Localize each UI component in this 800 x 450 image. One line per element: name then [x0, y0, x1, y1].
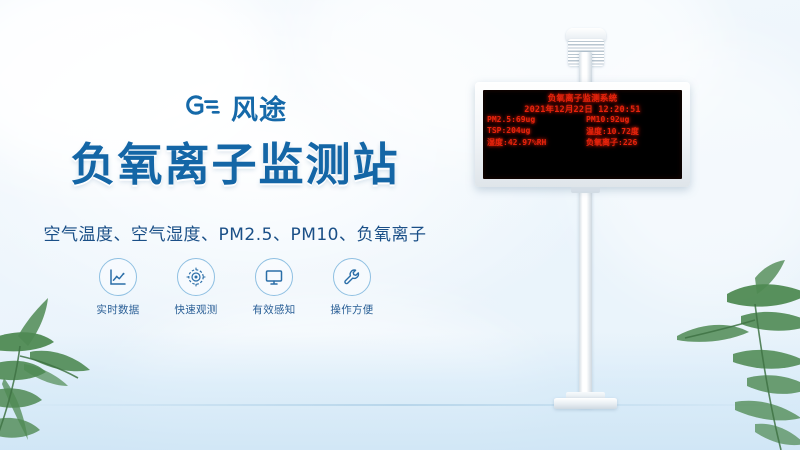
feature-item-realtime-data[interactable]: 实时数据: [92, 258, 144, 317]
feature-item-easy-operation[interactable]: 操作方便: [326, 258, 378, 317]
page-title: 负氧离子监测站: [0, 128, 470, 193]
feature-label: 实时数据: [92, 302, 144, 317]
feature-label: 有效感知: [248, 302, 300, 317]
monitor-icon: [255, 258, 293, 296]
brand-logo: 风途: [0, 88, 470, 127]
promo-banner: 风途 负氧离子监测站 空气温度、空气湿度、PM2.5、PM10、负氧离子 实时数…: [0, 0, 800, 450]
fengtu-g-wind-logo-icon: [183, 92, 223, 123]
feature-item-fast-observation[interactable]: 快速观测: [170, 258, 222, 317]
led-reading-pm10: PM10:92ug: [586, 115, 629, 124]
led-reading-humidity: 湿度:42.97%RH: [487, 137, 546, 148]
led-display: 负氧离子监测系统 2021年12月22日 12:20:51 PM2.5:69ug…: [475, 82, 690, 187]
line-chart-icon: [99, 258, 137, 296]
feature-label: 操作方便: [326, 302, 378, 317]
page-subtitle: 空气温度、空气湿度、PM2.5、PM10、负氧离子: [0, 220, 470, 245]
led-reading-temperature: 温度:10.72度: [586, 126, 639, 137]
pole-base-plate: [554, 398, 617, 409]
led-reading-tsp: TSP:204ug: [487, 126, 530, 135]
marketing-text-block: 风途 负氧离子监测站 空气温度、空气湿度、PM2.5、PM10、负氧离子 实时数…: [0, 0, 470, 450]
led-panel: 负氧离子监测系统 2021年12月22日 12:20:51 PM2.5:69ug…: [483, 90, 682, 179]
led-datetime: 2021年12月22日 12:20:51: [483, 103, 682, 115]
feature-list: 实时数据 快速观测: [0, 258, 470, 317]
feature-item-effective-sensing[interactable]: 有效感知: [248, 258, 300, 317]
led-reading-negative-ion: 负氧离子:226: [586, 137, 637, 148]
brand-name: 风途: [231, 88, 287, 127]
wrench-icon: [333, 258, 371, 296]
led-reading-pm25: PM2.5:69ug: [487, 115, 535, 124]
radar-signal-icon: [177, 258, 215, 296]
monitoring-station: 负氧离子监测系统 2021年12月22日 12:20:51 PM2.5:69ug…: [470, 0, 800, 450]
feature-label: 快速观测: [170, 302, 222, 317]
screen-mount-bracket: [571, 186, 600, 193]
